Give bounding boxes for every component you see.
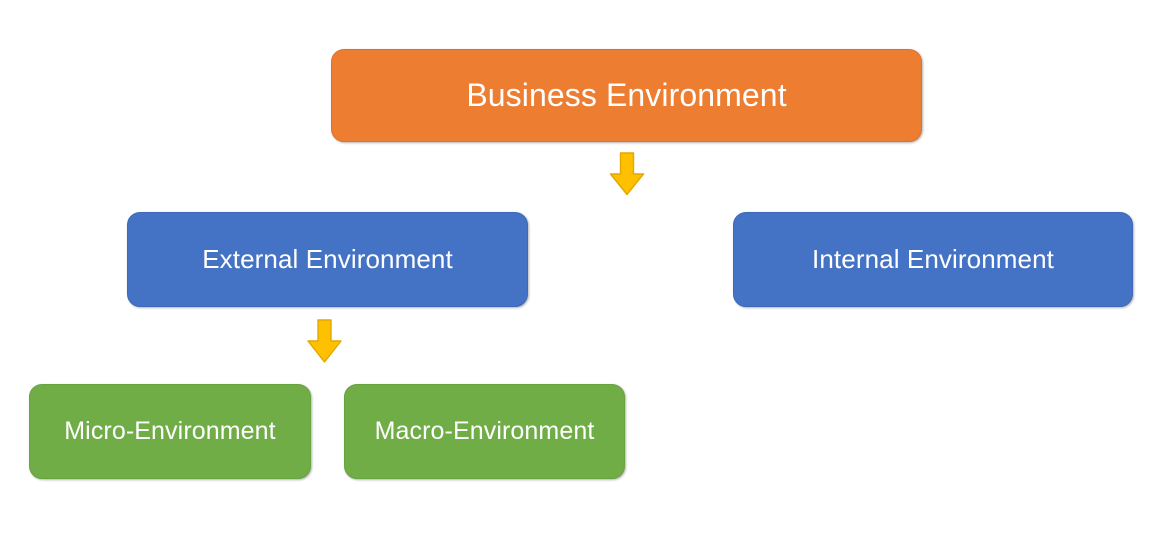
- arrow-down-icon-root-to-external: [609, 152, 645, 197]
- node-label: Internal Environment: [812, 245, 1054, 274]
- node-label: Macro-Environment: [375, 418, 595, 446]
- node-business-environment[interactable]: Business Environment: [331, 49, 922, 142]
- diagram-canvas: Business Environment External Environmen…: [0, 0, 1170, 538]
- node-internal-environment[interactable]: Internal Environment: [733, 212, 1133, 307]
- node-macro-environment[interactable]: Macro-Environment: [344, 384, 625, 479]
- node-external-environment[interactable]: External Environment: [127, 212, 528, 307]
- arrow-down-icon-external-to-leaves: [306, 319, 343, 364]
- node-label: Business Environment: [466, 78, 786, 113]
- node-label: External Environment: [202, 245, 453, 274]
- node-label: Micro-Environment: [64, 418, 275, 446]
- node-micro-environment[interactable]: Micro-Environment: [29, 384, 311, 479]
